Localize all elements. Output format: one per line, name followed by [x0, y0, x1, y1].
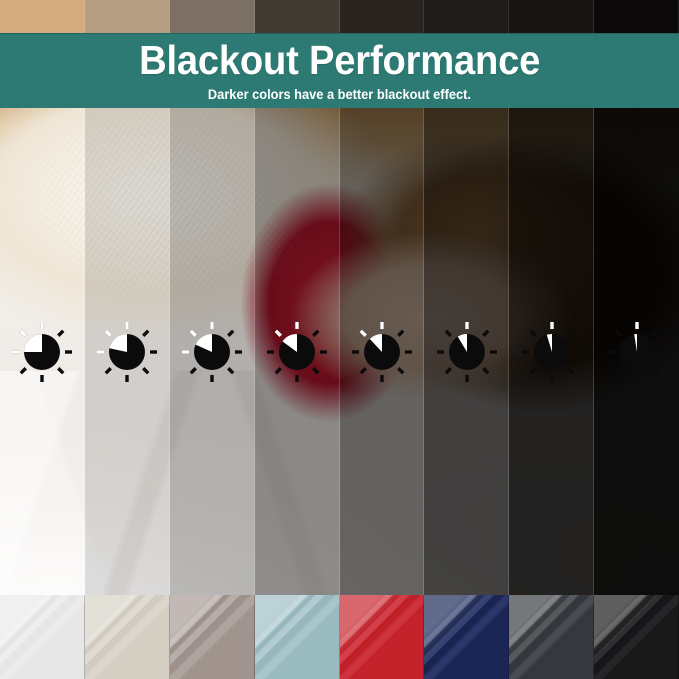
top-strip-cell — [85, 0, 170, 33]
swatch-sheen — [509, 595, 594, 679]
swatch-sheen — [0, 595, 85, 679]
swatch-sheen — [424, 595, 509, 679]
sun-icon-cell — [424, 108, 509, 595]
sun-upper-left-ray-highlight — [21, 330, 26, 335]
brightness-sun-icon — [96, 321, 158, 383]
sun-icon-cell — [509, 108, 594, 595]
brightness-sun-icon — [436, 321, 498, 383]
swatch-sheen — [170, 595, 255, 679]
sun-icon-cell — [0, 108, 85, 595]
swatch-sheen — [85, 595, 170, 679]
sun-upper-left-ray-highlight — [106, 330, 111, 335]
top-strip-cell — [424, 0, 509, 33]
sun-light-wedge — [24, 334, 42, 352]
fabric-swatch-taupe-grey[interactable] — [170, 595, 255, 679]
sun-icon-cell — [170, 108, 255, 595]
brightness-sun-icon — [11, 321, 73, 383]
fabric-swatch-light-blue[interactable] — [255, 595, 340, 679]
headline-banner: Blackout Performance Darker colors have … — [0, 33, 679, 108]
fabric-swatch-navy[interactable] — [424, 595, 509, 679]
brightness-sun-icon — [351, 321, 413, 383]
swatch-sheen — [594, 595, 679, 679]
top-strip-cell — [509, 0, 594, 33]
fabric-swatch-black[interactable] — [594, 595, 679, 679]
top-strip-cell — [170, 0, 255, 33]
sun-icon-cell — [85, 108, 170, 595]
top-strip-cell — [0, 0, 85, 33]
top-strip-cell — [594, 0, 679, 33]
sun-icon-row — [0, 108, 679, 595]
fabric-swatch-red[interactable] — [340, 595, 425, 679]
banner-subtitle: Darker colors have a better blackout eff… — [208, 87, 471, 102]
banner-title: Blackout Performance — [139, 40, 540, 81]
sun-icon-cell — [594, 108, 679, 595]
photo-area — [0, 108, 679, 595]
brightness-sun-icon — [181, 321, 243, 383]
sun-upper-left-ray-highlight — [361, 330, 366, 335]
brightness-sun-icon — [606, 321, 668, 383]
sun-upper-left-ray-highlight — [191, 330, 196, 335]
blackout-performance-infographic: Blackout Performance Darker colors have … — [0, 0, 679, 679]
sun-icon-cell — [255, 108, 340, 595]
top-strip-cell — [255, 0, 340, 33]
top-color-strip — [0, 0, 679, 33]
brightness-sun-icon — [266, 321, 328, 383]
sun-upper-left-ray-highlight — [276, 330, 281, 335]
swatch-sheen — [255, 595, 340, 679]
fabric-swatch-band — [0, 595, 679, 679]
top-strip-cell — [340, 0, 425, 33]
fabric-swatch-dark-grey[interactable] — [509, 595, 594, 679]
brightness-sun-icon — [521, 321, 583, 383]
swatch-sheen — [340, 595, 425, 679]
fabric-swatch-white[interactable] — [0, 595, 85, 679]
fabric-swatch-cream[interactable] — [85, 595, 170, 679]
sun-icon-cell — [340, 108, 425, 595]
